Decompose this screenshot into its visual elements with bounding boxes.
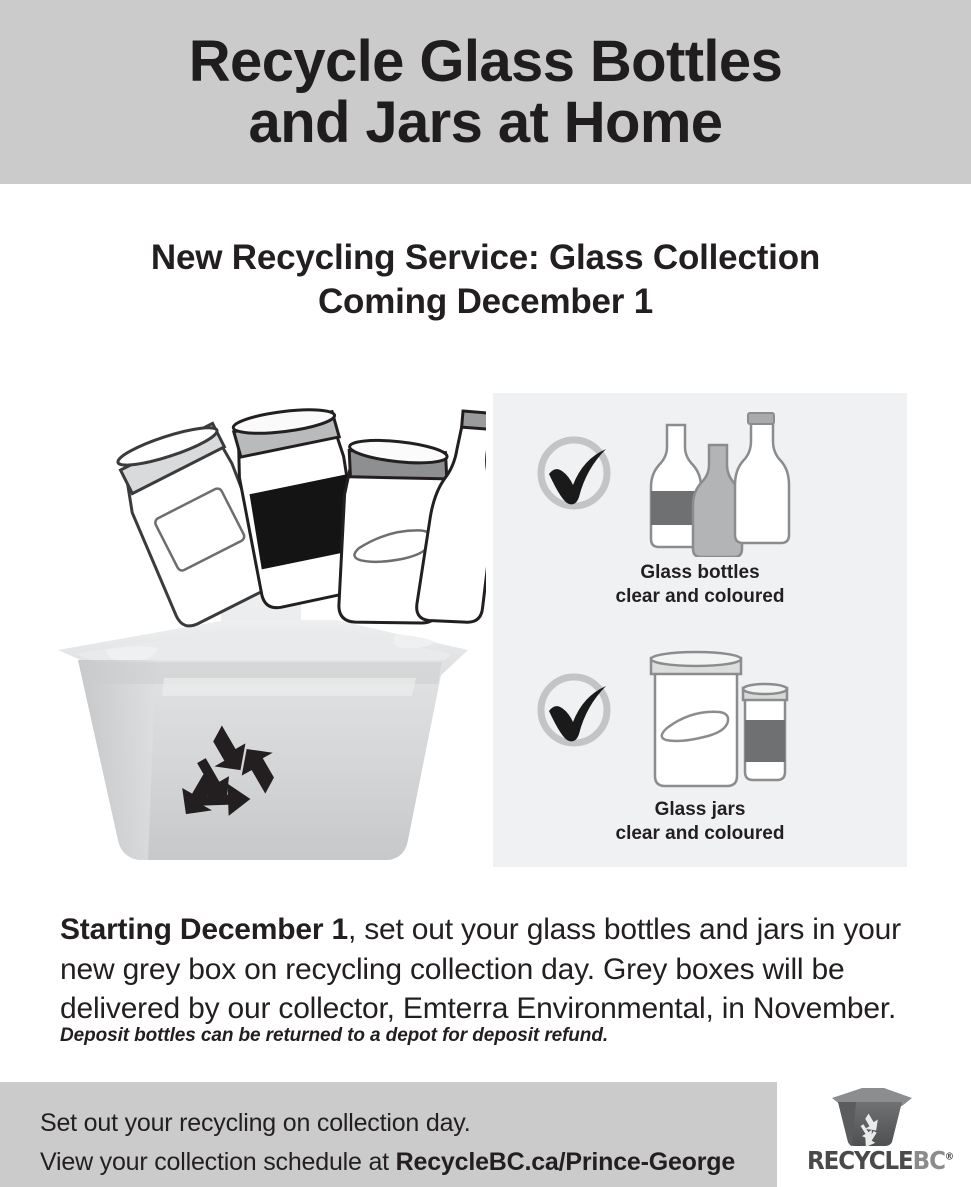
footer-band: Set out your recycling on collection day… [0, 1082, 777, 1187]
footer-text: Set out your recycling on collection day… [40, 1104, 735, 1182]
body-lead: Starting December 1 [60, 913, 348, 946]
grey-recycling-box [58, 620, 468, 860]
accepted-materials-panel: Glass bottles clear and coloured [493, 393, 907, 867]
jar-large-clear [651, 652, 741, 786]
bottle-tall-clear [735, 413, 789, 543]
checkmark-circle-icon [531, 665, 617, 751]
subheading-line-2: Coming December 1 [0, 280, 971, 324]
wordmark-main: RECYCLE [807, 1146, 913, 1175]
page-title: Recycle Glass Bottles and Jars at Home [149, 31, 822, 154]
recyclebc-logo: RECYCLEBC® [800, 1086, 960, 1184]
glass-bottles-icon [633, 407, 813, 557]
footer-line-1: Set out your recycling on collection day… [40, 1104, 735, 1143]
jar-small-coloured [743, 684, 787, 780]
accepted-row-jars: Glass jars clear and coloured [493, 630, 907, 867]
header-band: Recycle Glass Bottles and Jars at Home [0, 0, 971, 184]
accepted-row-bottles: Glass bottles clear and coloured [493, 393, 907, 630]
body-paragraph: Starting December 1, set out your glass … [60, 910, 930, 1029]
deposit-note: Deposit bottles can be returned to a dep… [60, 1025, 930, 1047]
subheading-line-1: New Recycling Service: Glass Collection [151, 238, 820, 277]
footer-line-2: View your collection schedule at Recycle… [40, 1143, 735, 1182]
jars-caption-line-1: Glass jars [655, 799, 746, 820]
footer-url-link[interactable]: RecycleBC.ca/Prince-George [396, 1148, 735, 1176]
glass-jars-icon [633, 644, 813, 794]
trademark-symbol: ® [945, 1152, 953, 1163]
glass-items-falling-into-grey-box-illustration [36, 388, 486, 880]
bottles-caption-line-1: Glass bottles [640, 562, 759, 583]
bottles-caption-line-2: clear and coloured [493, 585, 907, 609]
jars-caption-line-2: clear and coloured [493, 822, 907, 846]
page-title-line-1: Recycle Glass Bottles [189, 29, 782, 94]
subheading: New Recycling Service: Glass Collection … [0, 236, 971, 325]
footer-line-2-prefix: View your collection schedule at [40, 1148, 396, 1176]
wordmark-accent: BC [913, 1146, 945, 1175]
page-title-line-2: and Jars at Home [189, 92, 782, 153]
checkmark-circle-icon [531, 428, 617, 514]
recyclebc-wordmark: RECYCLEBC® [806, 1148, 953, 1173]
jars-caption: Glass jars clear and coloured [493, 798, 907, 846]
bottles-caption: Glass bottles clear and coloured [493, 561, 907, 609]
recycle-bin-icon [822, 1086, 918, 1148]
